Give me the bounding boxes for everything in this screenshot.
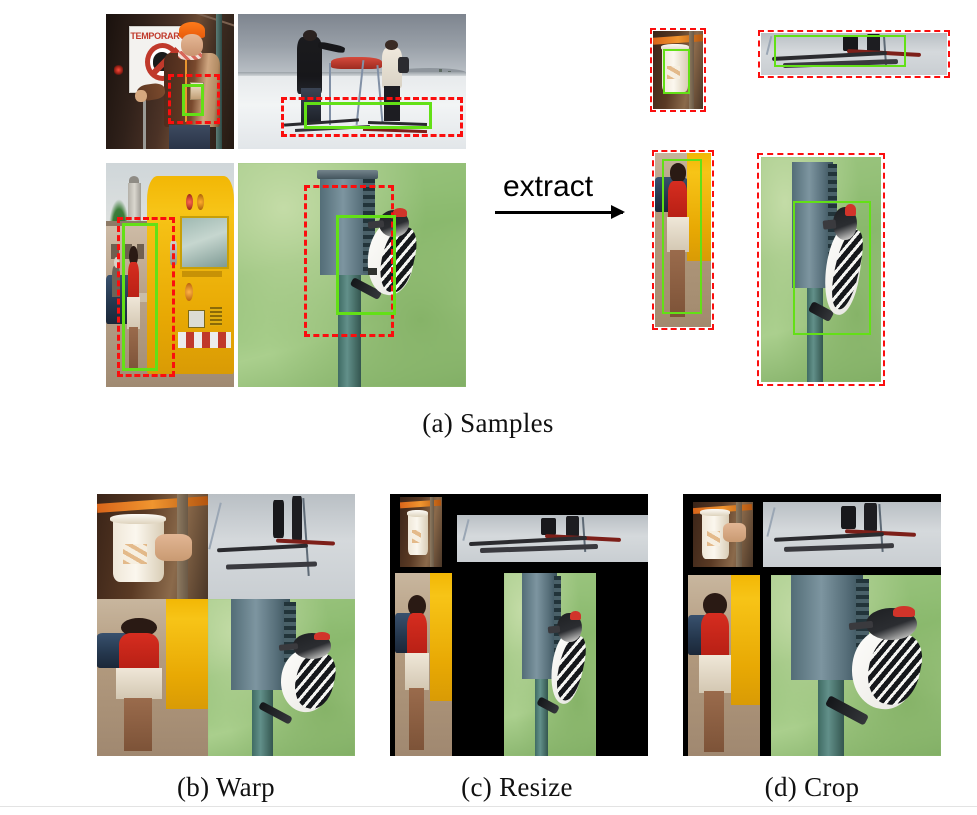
object-box-green bbox=[663, 49, 690, 94]
tile-warp-skis bbox=[208, 494, 355, 599]
woman-red-top bbox=[119, 633, 159, 671]
caption-panel-b: (b) Warp bbox=[126, 772, 326, 803]
feeder-post bbox=[818, 676, 844, 756]
source-image-woodpecker-on-feeder bbox=[238, 163, 466, 387]
woman-legs bbox=[124, 698, 153, 751]
bus-plate bbox=[188, 310, 205, 328]
object-box-green bbox=[182, 84, 204, 116]
ski-boot bbox=[292, 496, 302, 542]
woman-white-skirt bbox=[405, 653, 429, 690]
woman-red-top bbox=[701, 613, 728, 658]
cup bbox=[408, 512, 428, 554]
bird-red-crown bbox=[570, 611, 580, 620]
ski-boot bbox=[541, 518, 556, 535]
feeder-cap bbox=[317, 170, 379, 179]
object-box-green bbox=[774, 35, 906, 67]
woman-legs bbox=[409, 688, 424, 750]
source-image-woman-by-school-bus bbox=[106, 163, 234, 387]
ski bbox=[774, 532, 884, 542]
extracted-crop-cup-patch bbox=[650, 28, 706, 112]
school-bus bbox=[430, 573, 452, 701]
bird-red-crown bbox=[314, 632, 330, 640]
skier-2-head bbox=[385, 40, 398, 51]
arrow-right-icon bbox=[495, 211, 623, 214]
extracted-crop-skis bbox=[758, 30, 950, 78]
bus-headlight bbox=[185, 283, 193, 301]
tile-warp-cup-patch bbox=[97, 494, 208, 599]
ski bbox=[217, 544, 308, 553]
tile-crop-skis bbox=[763, 502, 941, 568]
man-face bbox=[181, 34, 203, 56]
man-jeans bbox=[169, 125, 210, 149]
tile-resize-woodpecker bbox=[504, 573, 597, 756]
ski-boot bbox=[864, 503, 876, 532]
panel-d-crop bbox=[683, 494, 941, 756]
extract-label: extract bbox=[503, 170, 593, 204]
red-sled bbox=[331, 57, 381, 69]
tile-crop-woman bbox=[688, 575, 760, 756]
caption-panel-c: (c) Resize bbox=[417, 772, 617, 803]
ski bbox=[480, 544, 598, 553]
tile-resize-woman bbox=[395, 573, 452, 756]
orange-bar bbox=[97, 496, 208, 513]
bird-red-crown bbox=[893, 606, 915, 617]
object-box-green bbox=[793, 201, 871, 335]
feeder-post bbox=[535, 675, 548, 756]
bus-lamp-amber bbox=[197, 194, 204, 210]
object-box-green bbox=[304, 102, 432, 129]
tile-warp-woman bbox=[97, 599, 208, 756]
school-bus bbox=[731, 575, 760, 705]
tile-crop-woodpecker bbox=[771, 575, 941, 756]
sign-text: TEMPORARY bbox=[130, 31, 185, 41]
woman-red-top bbox=[407, 613, 427, 657]
tile-crop-cup-patch bbox=[693, 502, 752, 568]
ski-boot bbox=[273, 500, 285, 538]
feeder-post bbox=[252, 687, 273, 756]
paper-figure: TEMPORARY bbox=[0, 0, 977, 815]
panel-b-warp bbox=[97, 494, 355, 756]
source-image-man-with-temporary-sign: TEMPORARY bbox=[106, 14, 234, 149]
tile-resize-skis bbox=[457, 515, 648, 562]
hand bbox=[723, 523, 746, 543]
tile-warp-woodpecker bbox=[208, 599, 355, 756]
school-bus bbox=[166, 599, 208, 709]
cup-lid bbox=[407, 510, 428, 517]
object-box-green bbox=[122, 223, 158, 371]
caption-panel-a: (a) Samples bbox=[388, 408, 588, 439]
cup-lid bbox=[110, 514, 165, 524]
extracted-crop-woodpecker bbox=[757, 153, 885, 386]
ski-boot bbox=[841, 506, 855, 530]
caption-panel-d: (d) Crop bbox=[712, 772, 912, 803]
ski-pole bbox=[208, 503, 222, 550]
source-image-cross-country-skiers bbox=[238, 14, 466, 149]
bus-vent bbox=[210, 307, 222, 327]
cup-lid bbox=[700, 509, 730, 516]
ski-boot bbox=[566, 516, 579, 537]
woman-white-skirt bbox=[699, 655, 731, 693]
bus-bumper bbox=[178, 332, 230, 348]
extracted-crop-woman bbox=[652, 150, 714, 330]
woman-legs bbox=[704, 691, 724, 752]
orange-bar bbox=[400, 499, 441, 508]
skier-2-bag bbox=[398, 57, 409, 73]
ski-pole bbox=[462, 519, 469, 541]
object-box-green bbox=[662, 159, 702, 314]
hand bbox=[155, 534, 193, 561]
ski bbox=[226, 562, 317, 570]
panel-c-resize bbox=[390, 494, 648, 756]
object-box-green bbox=[336, 215, 396, 315]
bus-lamp-red bbox=[186, 194, 193, 210]
ski bbox=[784, 543, 894, 552]
man-hand bbox=[135, 90, 147, 102]
pole bbox=[430, 497, 434, 568]
bird-beak bbox=[548, 625, 561, 634]
street-light bbox=[114, 65, 123, 74]
page-divider bbox=[0, 806, 977, 807]
ski-pole bbox=[766, 507, 775, 537]
tile-resize-cup-patch bbox=[400, 497, 441, 568]
bus-windshield bbox=[180, 216, 229, 269]
woman-white-skirt bbox=[116, 668, 163, 699]
bus-grill bbox=[182, 271, 222, 277]
skier-1-head bbox=[303, 30, 317, 41]
